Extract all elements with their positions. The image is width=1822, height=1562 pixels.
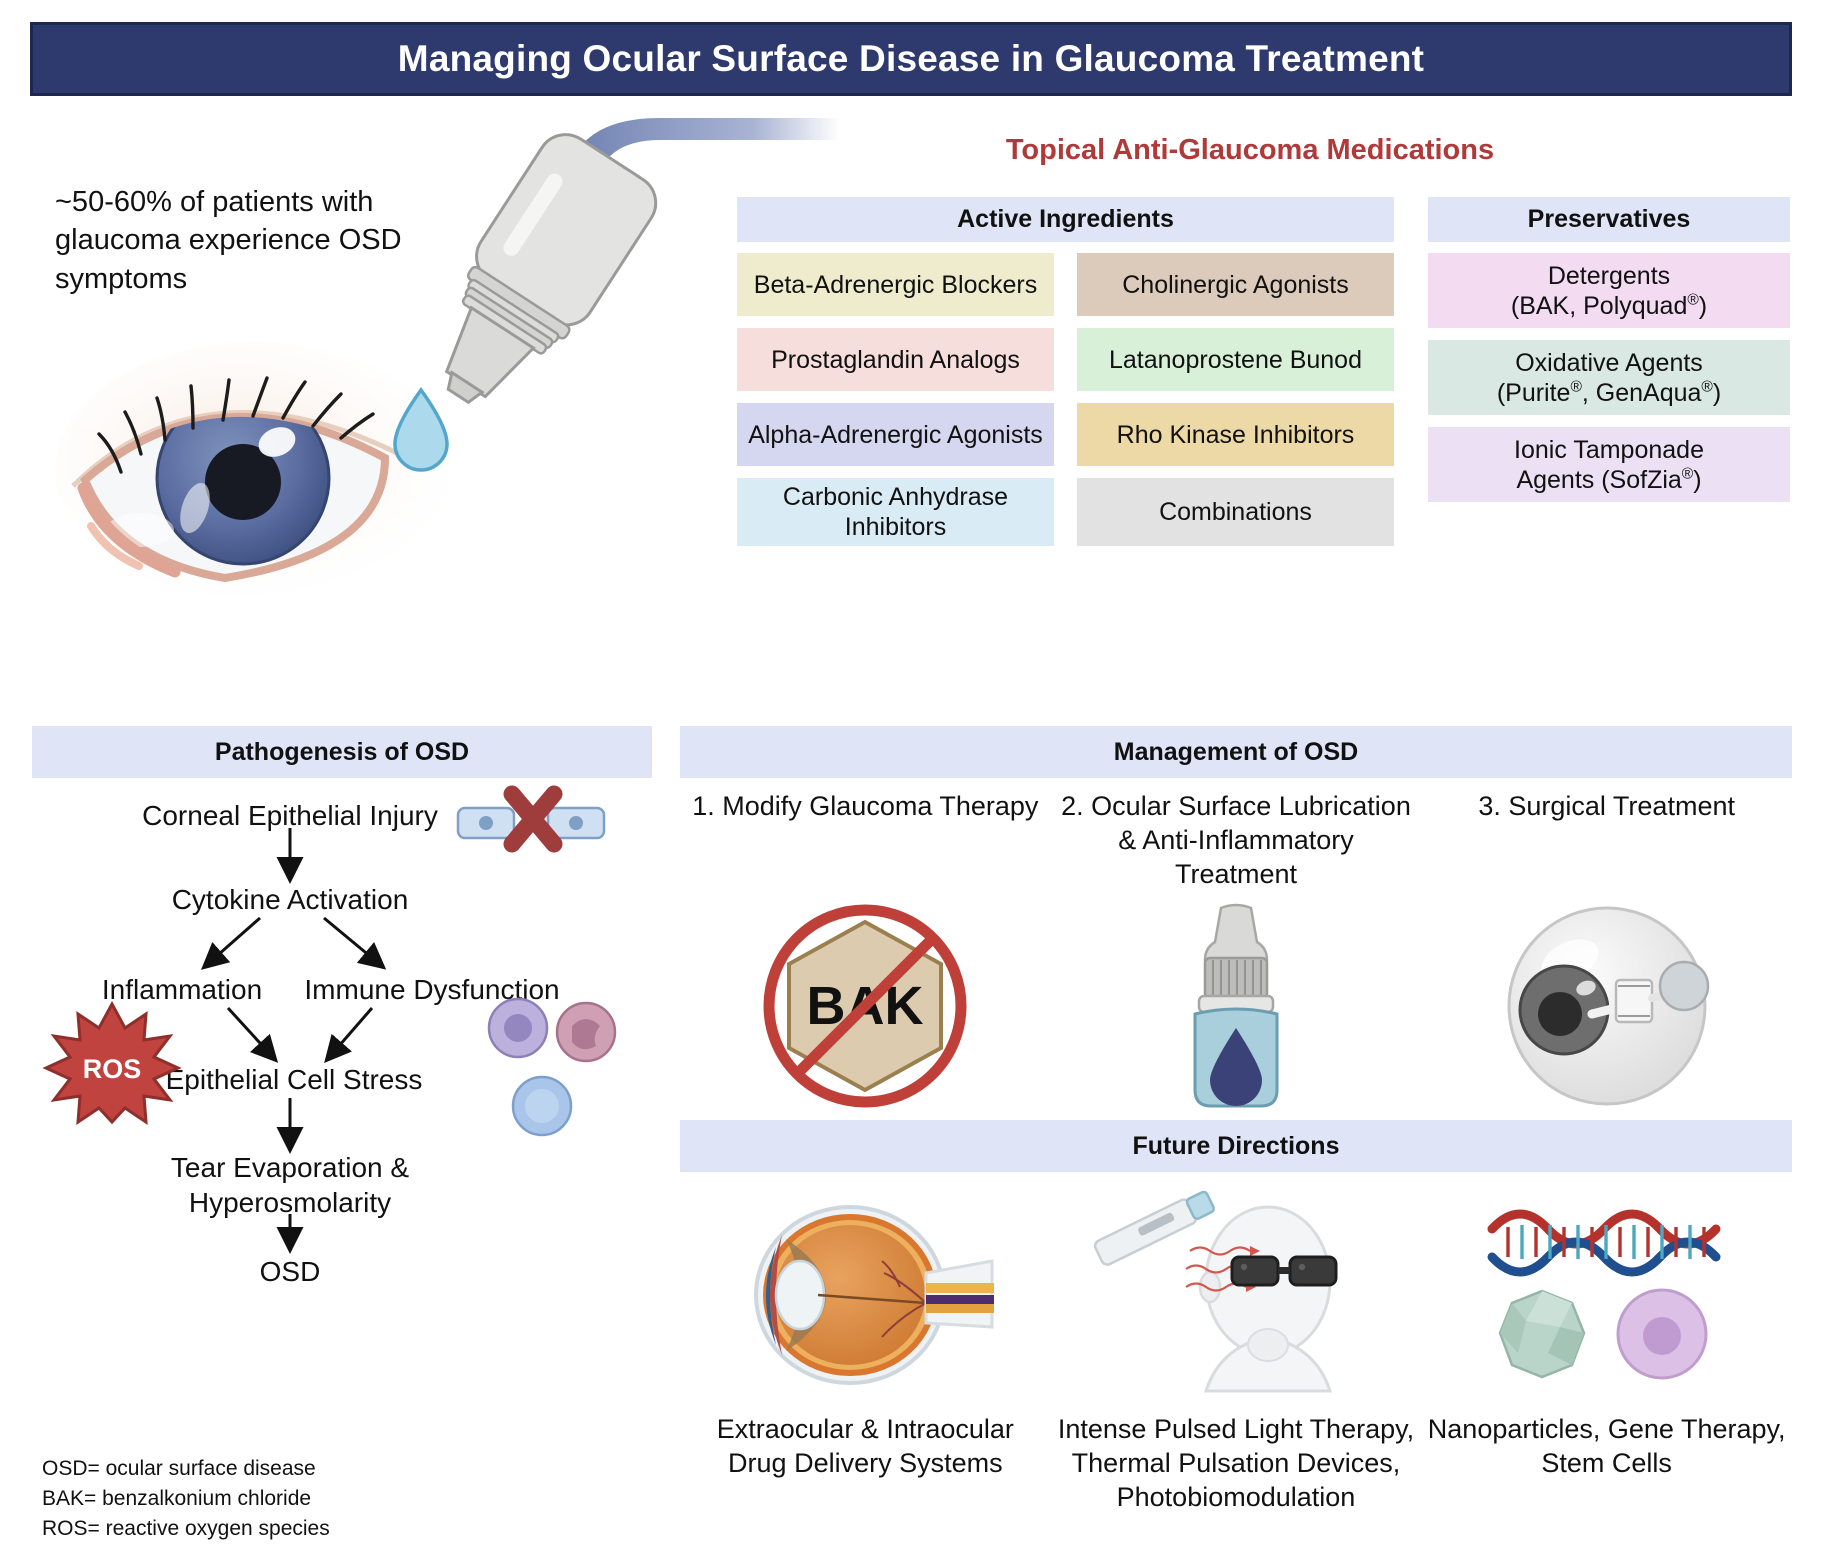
management-number-1: 1. (692, 791, 715, 821)
management-label-3: 3. Surgical Treatment (1429, 790, 1784, 898)
flow-node-cytokine: Cytokine Activation (172, 882, 409, 917)
pathogenesis-title: Pathogenesis of OSD (215, 738, 469, 767)
management-text-2: Ocular Surface Lubrication & Anti-Inflam… (1091, 791, 1411, 889)
preservative-chip: Oxidative Agents(Purite®, GenAqua®) (1428, 340, 1790, 415)
legend-line: OSD= ocular surface disease (42, 1454, 330, 1484)
preservatives-title: Preservatives (1528, 205, 1691, 234)
flow-node-tear-evaporation: Tear Evaporation & Hyperosmolarity (140, 1150, 440, 1220)
eye-implant-icon (1429, 898, 1784, 1113)
preservatives-header: Preservatives (1428, 197, 1790, 242)
active-ingredient-chip: Latanoprostene Bunod (1077, 328, 1394, 391)
infographic-root: Managing Ocular Surface Disease in Glauc… (0, 0, 1822, 1562)
flow-node-osd: OSD (260, 1254, 321, 1289)
future-directions-columns: Extraocular & Intraocular Drug Delivery … (680, 1186, 1792, 1514)
management-number-3: 3. (1478, 791, 1501, 821)
future-caption-3: Nanoparticles, Gene Therapy, Stem Cells (1427, 1412, 1786, 1480)
preservatives-list: Detergents(BAK, Polyquad®)Oxidative Agen… (1428, 253, 1790, 502)
preservative-chip: Ionic TamponadeAgents (SofZia®) (1428, 427, 1790, 502)
active-ingredient-chip: Prostaglandin Analogs (737, 328, 1054, 391)
future-column-3: Nanoparticles, Gene Therapy, Stem Cells (1421, 1186, 1792, 1514)
abbreviation-legend: OSD= ocular surface diseaseBAK= benzalko… (42, 1454, 330, 1543)
future-caption-2: Intense Pulsed Light Therapy, Thermal Pu… (1057, 1412, 1416, 1514)
management-header: Management of OSD (680, 726, 1792, 778)
page-title: Managing Ocular Surface Disease in Glauc… (398, 38, 1424, 80)
ros-burst-icon: ROS (46, 1002, 178, 1124)
management-text-1: Modify Glaucoma Therapy (722, 791, 1038, 821)
active-ingredients-grid: Beta-Adrenergic BlockersCholinergic Agon… (737, 253, 1394, 546)
active-ingredient-chip: Cholinergic Agonists (1077, 253, 1394, 316)
management-title: Management of OSD (1114, 738, 1358, 767)
immune-cells-icon (480, 994, 640, 1144)
management-columns: 1. Modify Glaucoma Therapy BAK 2. Ocular… (680, 790, 1792, 1113)
pathogenesis-flowchart: Corneal Epithelial Injury Cytokine Activ… (32, 790, 672, 1250)
future-column-2: Intense Pulsed Light Therapy, Thermal Pu… (1051, 1186, 1422, 1514)
damaged-cells-icon (456, 782, 606, 858)
page-title-bar: Managing Ocular Surface Disease in Glauc… (30, 22, 1792, 96)
active-ingredient-chip: Rho Kinase Inhibitors (1077, 403, 1394, 466)
management-label-1: 1. Modify Glaucoma Therapy (688, 790, 1043, 898)
eye-anatomy-icon (686, 1186, 1045, 1404)
future-caption-1: Extraocular & Intraocular Drug Delivery … (686, 1412, 1045, 1480)
future-directions-header: Future Directions (680, 1120, 1792, 1172)
legend-line: ROS= reactive oxygen species (42, 1514, 330, 1544)
management-text-3: Surgical Treatment (1508, 791, 1735, 821)
active-ingredients-title: Active Ingredients (957, 205, 1174, 234)
ros-label: ROS (83, 1054, 142, 1084)
active-ingredient-chip: Combinations (1077, 478, 1394, 546)
preservative-chip: Detergents(BAK, Polyquad®) (1428, 253, 1790, 328)
dna-nanoparticle-icon (1427, 1186, 1786, 1404)
pathogenesis-header: Pathogenesis of OSD (32, 726, 652, 778)
management-column-2: 2. Ocular Surface Lubrication & Anti-Inf… (1051, 790, 1422, 1113)
topical-medications-heading: Topical Anti-Glaucoma Medications (960, 134, 1540, 167)
active-ingredient-chip: Carbonic Anhydrase Inhibitors (737, 478, 1054, 546)
active-ingredient-chip: Alpha-Adrenergic Agonists (737, 403, 1054, 466)
eye-drop-bottle-icon (1059, 898, 1414, 1113)
flow-node-corneal-injury: Corneal Epithelial Injury (142, 798, 438, 833)
management-label-2: 2. Ocular Surface Lubrication & Anti-Inf… (1059, 790, 1414, 898)
ipl-therapy-icon (1057, 1186, 1416, 1404)
no-bak-icon: BAK (688, 898, 1043, 1113)
active-ingredient-chip: Beta-Adrenergic Blockers (737, 253, 1054, 316)
future-column-1: Extraocular & Intraocular Drug Delivery … (680, 1186, 1051, 1514)
eye-illustration (55, 330, 525, 610)
legend-line: BAK= benzalkonium chloride (42, 1484, 330, 1514)
management-number-2: 2. (1061, 791, 1084, 821)
management-column-1: 1. Modify Glaucoma Therapy BAK (680, 790, 1051, 1113)
future-directions-title: Future Directions (1133, 1132, 1340, 1161)
flow-node-cell-stress: Epithelial Cell Stress (166, 1062, 423, 1097)
management-column-3: 3. Surgical Treatment (1421, 790, 1792, 1113)
active-ingredients-header: Active Ingredients (737, 197, 1394, 242)
